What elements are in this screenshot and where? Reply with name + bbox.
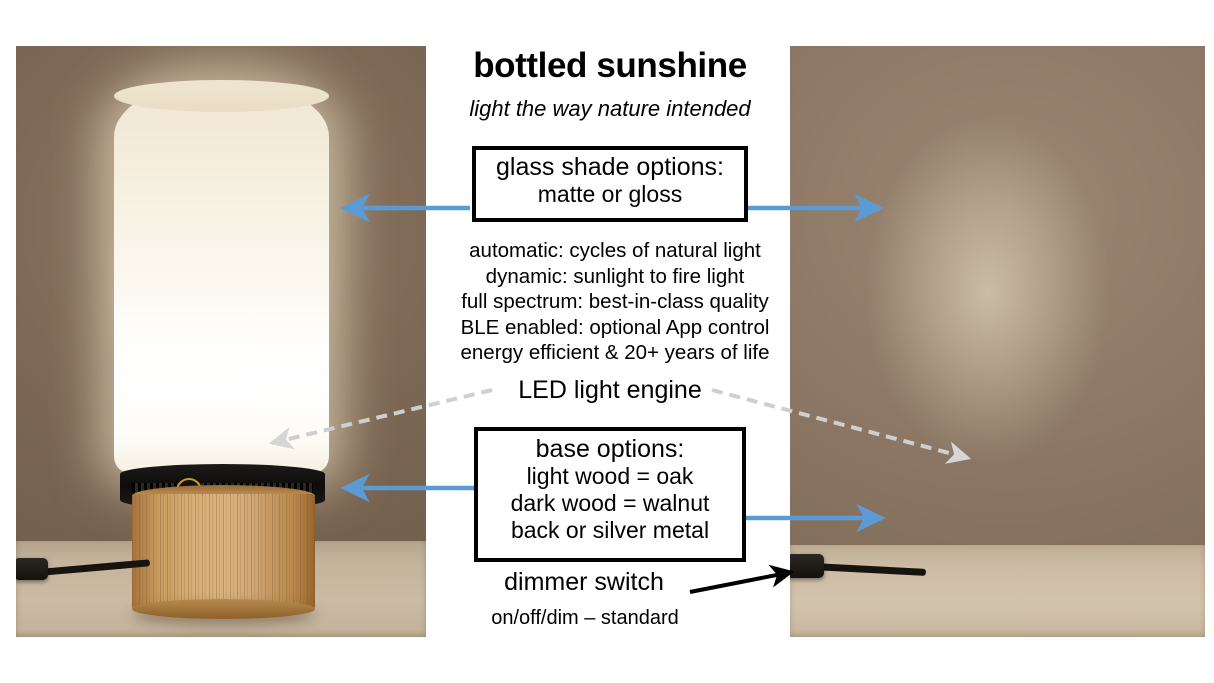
base-option-light-wood: light wood = oak [478,462,742,489]
product-photo-oak-matte: Si [16,46,426,637]
shade-options-values: matte or gloss [476,180,744,207]
feature-list: automatic: cycles of natural light dynam… [425,238,805,366]
shade-top-cap [114,80,329,112]
wooden-base-oak [132,494,315,610]
dimmer-switch-label: dimmer switch [454,570,714,595]
inline-dimmer-switch-right[interactable] [790,554,824,578]
base-option-metal: back or silver metal [478,516,742,543]
feature-item: BLE enabled: optional App control [425,315,805,341]
glass-shade-options-box: glass shade options: matte or gloss [472,146,748,222]
center-text-column: bottled sunshine light the way nature in… [430,0,790,683]
feature-item: automatic: cycles of natural light [425,238,805,264]
shade-options-heading: glass shade options: [476,150,744,180]
feature-item: dynamic: sunlight to fire light [425,264,805,290]
feature-item: energy efficient & 20+ years of life [425,340,805,366]
page-subtitle: light the way nature intended [430,98,790,120]
glass-shade-matte [114,82,329,472]
feature-item: full spectrum: best-in-class quality [425,289,805,315]
dimmer-switch-sublabel: on/off/dim – standard [440,608,730,628]
led-light-engine-label: LED light engine [430,378,790,403]
inline-dimmer-switch-left [16,558,48,580]
poster-canvas: Si [0,0,1214,683]
page-title: bottled sunshine [430,48,790,83]
base-body [132,494,315,610]
base-options-heading: base options: [478,431,742,462]
base-options-box: base options: light wood = oak dark wood… [474,427,746,562]
base-bottom-foot [132,599,315,619]
base-option-dark-wood: dark wood = walnut [478,489,742,516]
photo-table-surface [790,545,1205,637]
product-photo-walnut-gloss [790,46,1205,637]
